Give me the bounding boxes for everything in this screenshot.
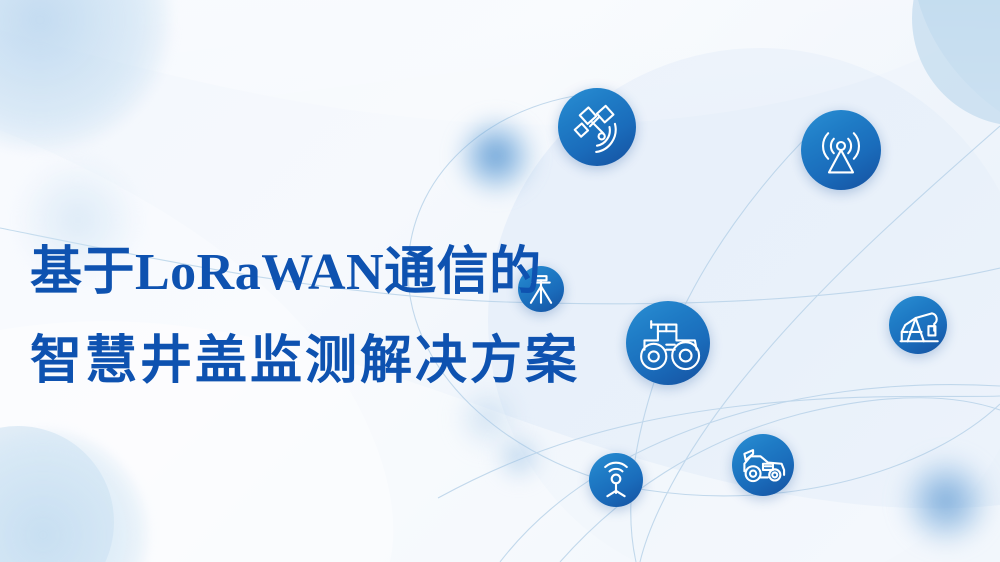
node-harvester[interactable] [732, 434, 794, 496]
node-oilpump[interactable] [889, 296, 947, 354]
blurred-accent-dot-upper [455, 115, 537, 197]
oil-pumpjack-icon [889, 296, 947, 354]
blurred-accent-dot-lower-right [900, 455, 992, 547]
title-line-1: 基于LoRaWAN通信的 [30, 228, 570, 317]
title-line-2: 智慧井盖监测解决方案 [30, 317, 570, 406]
corner-circle-bottom-left [0, 426, 114, 562]
node-satellite[interactable] [558, 88, 636, 166]
node-tractor[interactable] [626, 301, 710, 385]
corner-circle-top-right [912, 0, 1000, 126]
slide-canvas: 基于LoRaWAN通信的 智慧井盖监测解决方案 [0, 0, 1000, 562]
radio-tower-icon [801, 110, 881, 190]
tractor-icon [626, 301, 710, 385]
corner-shape-top-right [918, 0, 1000, 112]
wireless-antenna-icon [589, 453, 643, 507]
blurred-accent-dot-lower-center [492, 430, 546, 484]
node-antenna[interactable] [589, 453, 643, 507]
node-tower[interactable] [801, 110, 881, 190]
harvester-vehicle-icon [732, 434, 794, 496]
title-block: 基于LoRaWAN通信的 智慧井盖监测解决方案 [30, 228, 570, 407]
white-sweep-upper [0, 0, 1000, 125]
soft-blob-top-left [0, 0, 170, 150]
orbit-curve-6 [438, 396, 1000, 498]
satellite-signal-icon [558, 88, 636, 166]
soft-blob-bottom-left [0, 430, 148, 562]
